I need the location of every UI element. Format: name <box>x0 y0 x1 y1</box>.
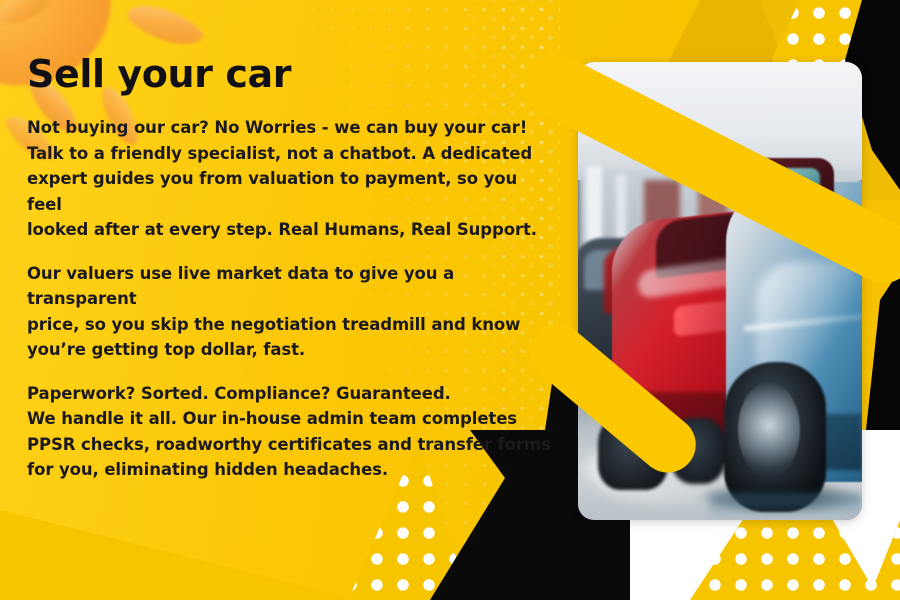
photo-wheel-rim <box>738 382 800 478</box>
sell-your-car-poster: Sell your car Not buying our car? No Wor… <box>0 0 900 600</box>
paragraph-intro: Not buying our car? No Worries - we can … <box>27 115 557 243</box>
page-title: Sell your car <box>27 55 557 93</box>
paragraph-valuation: Our valuers use live market data to give… <box>27 261 557 363</box>
photo-car-reflection <box>710 494 862 520</box>
paragraph-paperwork: Paperwork? Sorted. Compliance? Guarantee… <box>27 381 557 483</box>
text-content-block: Sell your car Not buying our car? No Wor… <box>27 55 557 483</box>
